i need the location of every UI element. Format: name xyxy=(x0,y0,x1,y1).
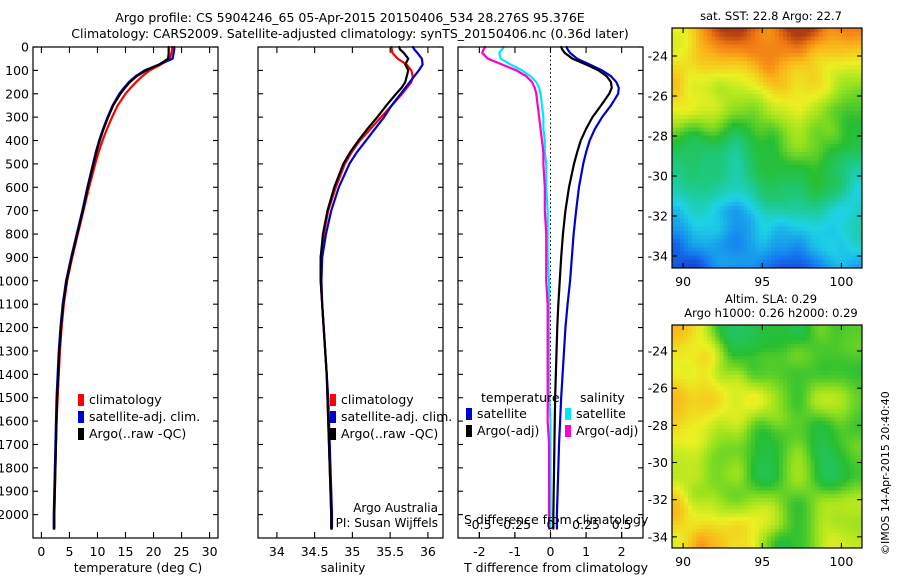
argo-profile-figure: Argo profile: CS 5904246_65 05-Apr-2015 … xyxy=(0,0,900,580)
legend-swatch-climatology xyxy=(330,394,336,406)
svg-text:500: 500 xyxy=(5,156,29,171)
svg-text:900: 900 xyxy=(5,250,29,265)
title-line-1: Argo profile: CS 5904246_65 05-Apr-2015 … xyxy=(115,10,584,25)
svg-text:1700: 1700 xyxy=(0,437,29,452)
figure-canvas: Argo profile: CS 5904246_65 05-Apr-2015 … xyxy=(0,0,900,580)
svg-text:30: 30 xyxy=(202,544,218,559)
svg-text:1200: 1200 xyxy=(0,320,29,335)
svg-text:100: 100 xyxy=(5,63,29,78)
map-sla-title-line-2: Argo h1000: 0.26 h2000: 0.29 xyxy=(684,306,857,320)
copyright-label: ©IMOS 14-Apr-2015 20:40:40 xyxy=(879,391,892,555)
map-sst-title: sat. SST: 22.8 Argo: 22.7 xyxy=(700,9,842,23)
legend-label-salinity-satellite: satellite xyxy=(576,406,626,421)
legend-label-satellite-adj-clim: satellite-adj. clim. xyxy=(341,409,452,424)
svg-text:200: 200 xyxy=(5,86,29,101)
svg-text:-26: -26 xyxy=(648,89,668,104)
svg-text:-2: -2 xyxy=(473,544,485,559)
svg-text:1900: 1900 xyxy=(0,484,29,499)
svg-text:-30: -30 xyxy=(648,169,668,184)
svg-text:1400: 1400 xyxy=(0,367,29,382)
legend-label-satellite-adj-clim: satellite-adj. clim. xyxy=(89,409,200,424)
svg-text:-24: -24 xyxy=(648,49,668,64)
legend-label-argo-raw: Argo(..raw -QC) xyxy=(89,426,186,441)
svg-text:-1: -1 xyxy=(509,544,521,559)
annotation-pi: PI: Susan Wijffels xyxy=(336,516,438,530)
svg-text:600: 600 xyxy=(5,180,29,195)
svg-text:700: 700 xyxy=(5,203,29,218)
legend-swatch-satellite-adj-clim xyxy=(330,411,336,423)
svg-text:36: 36 xyxy=(420,544,436,559)
legend-swatch-satellite-adj-clim xyxy=(78,411,84,423)
svg-text:95: 95 xyxy=(754,274,770,289)
svg-text:90: 90 xyxy=(675,274,691,289)
svg-text:1000: 1000 xyxy=(0,273,29,288)
svg-text:100: 100 xyxy=(829,274,853,289)
svg-text:1100: 1100 xyxy=(0,297,29,312)
svg-text:2: 2 xyxy=(618,544,626,559)
svg-text:35.5: 35.5 xyxy=(376,544,404,559)
legend-swatch-temperature-satellite xyxy=(466,408,472,420)
svg-text:10: 10 xyxy=(90,544,106,559)
svg-text:1500: 1500 xyxy=(0,390,29,405)
map-sst-field xyxy=(672,28,863,269)
map-sst: sat. SST: 22.8 Argo: 22.7 9095100-24-26-… xyxy=(648,9,863,289)
legend-swatch-salinity-argo xyxy=(565,425,571,437)
difference-xlabel-bottom: T difference from climatology xyxy=(463,560,649,575)
svg-text:25: 25 xyxy=(174,544,190,559)
svg-text:1300: 1300 xyxy=(0,343,29,358)
legend-swatch-temperature-argo xyxy=(466,425,472,437)
svg-text:34.5: 34.5 xyxy=(301,544,329,559)
svg-text:300: 300 xyxy=(5,110,29,125)
svg-text:0: 0 xyxy=(21,40,29,55)
legend-swatch-climatology xyxy=(78,394,84,406)
svg-text:15: 15 xyxy=(118,544,134,559)
svg-text:34: 34 xyxy=(269,544,285,559)
svg-text:35: 35 xyxy=(344,544,360,559)
svg-text:-28: -28 xyxy=(648,129,668,144)
legend-header-temperature: temperature xyxy=(481,390,560,405)
legend-label-argo-raw: Argo(..raw -QC) xyxy=(341,426,438,441)
difference-xlabel-top: S difference from climatology xyxy=(464,512,649,527)
map-sla: Altim. SLA: 0.29 Argo h1000: 0.26 h2000:… xyxy=(648,292,863,569)
legend-swatch-argo-raw xyxy=(78,428,84,440)
legend-label-climatology: climatology xyxy=(341,392,414,407)
svg-text:0: 0 xyxy=(547,544,555,559)
legend-header-salinity: salinity xyxy=(580,390,625,405)
legend-swatch-argo-raw xyxy=(330,428,336,440)
annotation-argo-australia: Argo Australia xyxy=(353,501,438,515)
salinity-xlabel: salinity xyxy=(321,560,366,575)
svg-text:800: 800 xyxy=(5,227,29,242)
svg-text:1: 1 xyxy=(582,544,590,559)
svg-text:2000: 2000 xyxy=(0,507,29,522)
legend-label-temperature-argo: Argo(-adj) xyxy=(477,423,539,438)
map-sla-title-line-1: Altim. SLA: 0.29 xyxy=(725,292,817,306)
legend-label-climatology: climatology xyxy=(89,392,162,407)
svg-text:5: 5 xyxy=(65,544,73,559)
map-sla-field xyxy=(672,325,863,549)
title-line-2: Climatology: CARS2009. Satellite-adjuste… xyxy=(71,26,628,41)
svg-text:0: 0 xyxy=(37,544,45,559)
svg-text:20: 20 xyxy=(146,544,162,559)
temperature-xlabel: temperature (deg C) xyxy=(74,560,203,575)
svg-text:-32: -32 xyxy=(648,209,668,224)
legend-swatch-salinity-satellite xyxy=(565,408,571,420)
legend-label-salinity-argo: Argo(-adj) xyxy=(576,423,638,438)
legend-label-temperature-satellite: satellite xyxy=(477,406,527,421)
svg-text:400: 400 xyxy=(5,133,29,148)
svg-text:1800: 1800 xyxy=(0,460,29,475)
svg-text:-34: -34 xyxy=(648,249,668,264)
svg-text:1600: 1600 xyxy=(0,414,29,429)
